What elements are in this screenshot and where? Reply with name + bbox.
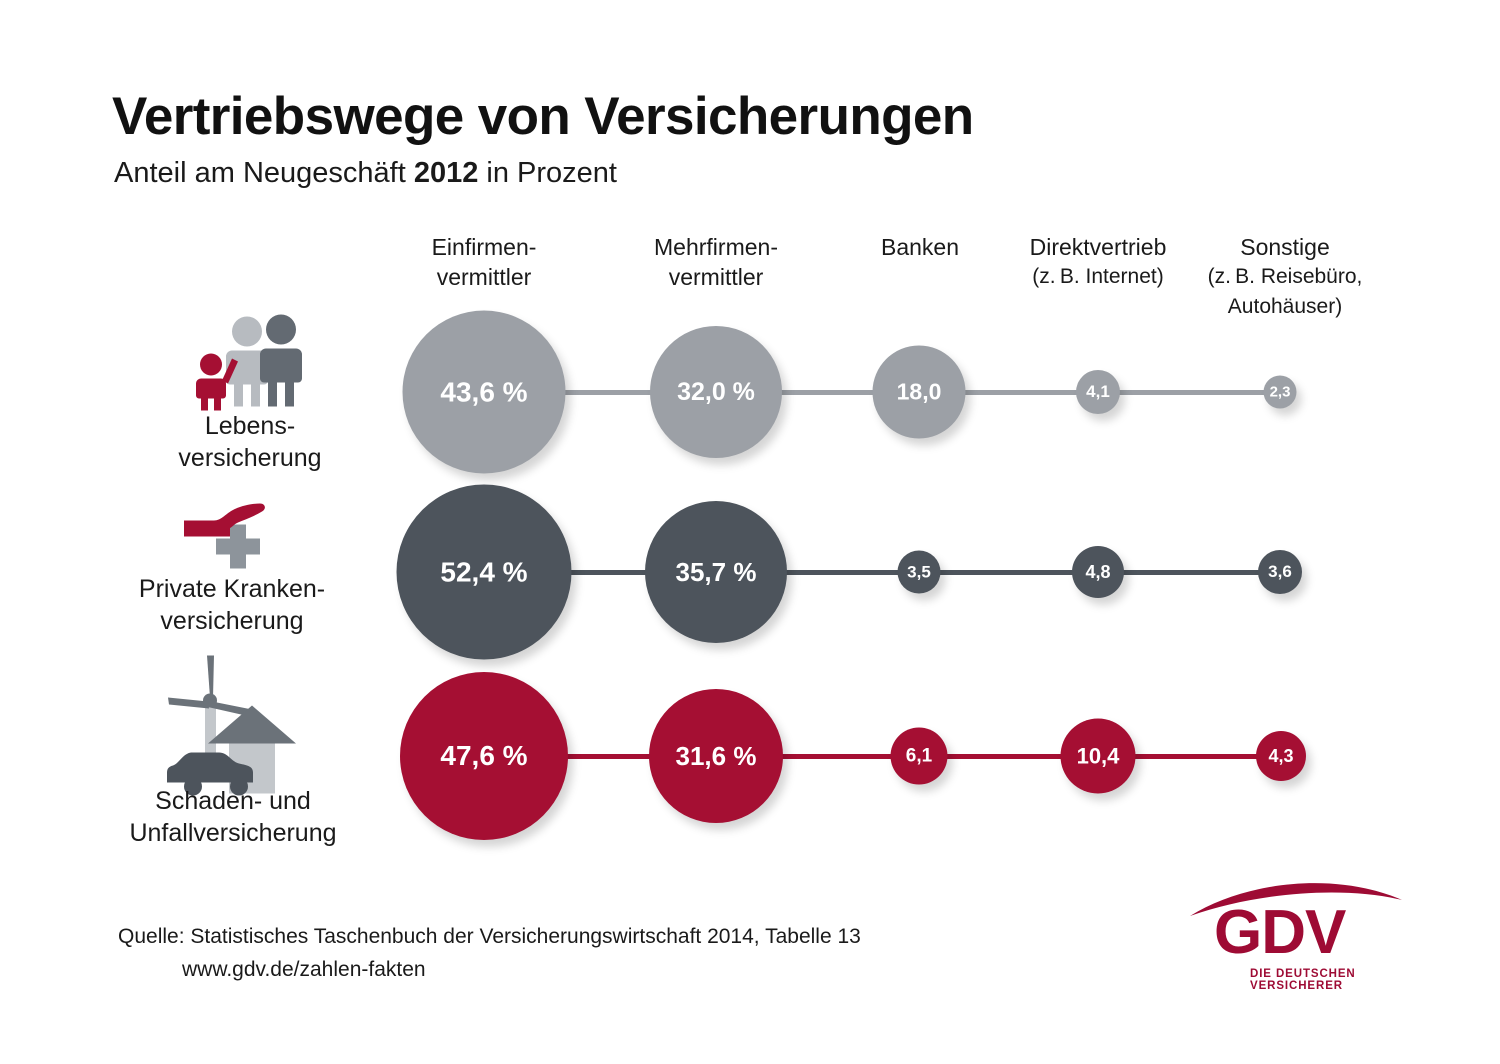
gdv-logo: GDV DIE DEUTSCHEN VERSICHERER	[1188, 876, 1414, 982]
bubble-krankenversicherung-einfirmenvermittler[interactable]: 52,4 %	[397, 485, 572, 660]
column-header-sonstige: Sonstige (z. B. Reisebüro, Autohäuser)	[1170, 232, 1400, 322]
row-label-line2: versicherung	[100, 442, 400, 474]
column-header-mehrfirmenvermittler: Mehrfirmen- vermittler	[576, 232, 856, 292]
windmill-house-car-icon	[163, 654, 303, 803]
row-label-private-krankenversicherung: Private Kranken- versicherung	[82, 573, 382, 637]
family-icon	[195, 315, 305, 416]
column-header-line2: (z. B. Reisebüro,	[1170, 262, 1400, 292]
column-header-line1: Einfirmen-	[354, 232, 614, 262]
hand-cross-icon	[180, 495, 284, 576]
bubble-schaden-banken[interactable]: 6,1	[891, 728, 948, 785]
bubble-lebensversicherung-direktvertrieb[interactable]: 4,1	[1076, 370, 1120, 414]
bubble-lebensversicherung-banken[interactable]: 18,0	[873, 346, 966, 439]
bubble-lebensversicherung-sonstige[interactable]: 2,3	[1264, 376, 1297, 409]
source-line1: Quelle: Statistisches Taschenbuch der Ve…	[118, 925, 861, 948]
row-label-line1: Schaden- und	[83, 785, 383, 817]
bubble-lebensversicherung-mehrfirmenvermittler[interactable]: 32,0 %	[650, 326, 782, 458]
connector-line	[484, 570, 1285, 575]
row-label-lebensversicherung: Lebens- versicherung	[100, 410, 400, 474]
gdv-wordmark: GDV	[1214, 902, 1345, 964]
column-header-line1: Sonstige	[1170, 232, 1400, 262]
bubble-schaden-mehrfirmenvermittler[interactable]: 31,6 %	[649, 689, 783, 823]
row-label-line2: versicherung	[82, 605, 382, 637]
infographic-root: Vertriebswege von Versicherungen Anteil …	[0, 0, 1500, 1064]
column-header-line2: vermittler	[576, 262, 856, 292]
source-note: Quelle: Statistisches Taschenbuch der Ve…	[118, 920, 861, 986]
bubble-krankenversicherung-sonstige[interactable]: 3,6	[1258, 550, 1302, 594]
connector-line	[484, 754, 1285, 759]
bubble-schaden-sonstige[interactable]: 4,3	[1256, 731, 1306, 781]
bubble-schaden-einfirmenvermittler[interactable]: 47,6 %	[400, 672, 568, 840]
page-subtitle: Anteil am Neugeschäft 2012 in Prozent	[114, 157, 617, 190]
subtitle-after: in Prozent	[478, 157, 617, 189]
row-label-line2: Unfallversicherung	[83, 817, 383, 849]
row-label-schaden-unfallversicherung: Schaden- und Unfallversicherung	[83, 785, 383, 849]
row-label-line1: Private Kranken-	[82, 573, 382, 605]
column-header-line1: Mehrfirmen-	[576, 232, 856, 262]
source-line2[interactable]: www.gdv.de/zahlen-fakten	[118, 953, 861, 986]
gdv-tagline: DIE DEUTSCHEN VERSICHERER	[1250, 968, 1414, 992]
subtitle-year: 2012	[414, 157, 479, 189]
bubble-krankenversicherung-banken[interactable]: 3,5	[898, 551, 941, 594]
subtitle-before: Anteil am Neugeschäft	[114, 157, 414, 189]
column-header-line3: Autohäuser)	[1170, 292, 1400, 322]
bubble-lebensversicherung-einfirmenvermittler[interactable]: 43,6 %	[403, 311, 566, 474]
bubble-krankenversicherung-mehrfirmenvermittler[interactable]: 35,7 %	[645, 501, 787, 643]
row-label-line1: Lebens-	[100, 410, 400, 442]
column-header-line2: vermittler	[354, 262, 614, 292]
column-header-einfirmenvermittler: Einfirmen- vermittler	[354, 232, 614, 292]
bubble-schaden-direktvertrieb[interactable]: 10,4	[1061, 719, 1136, 794]
bubble-krankenversicherung-direktvertrieb[interactable]: 4,8	[1072, 546, 1124, 598]
page-title: Vertriebswege von Versicherungen	[112, 86, 974, 147]
